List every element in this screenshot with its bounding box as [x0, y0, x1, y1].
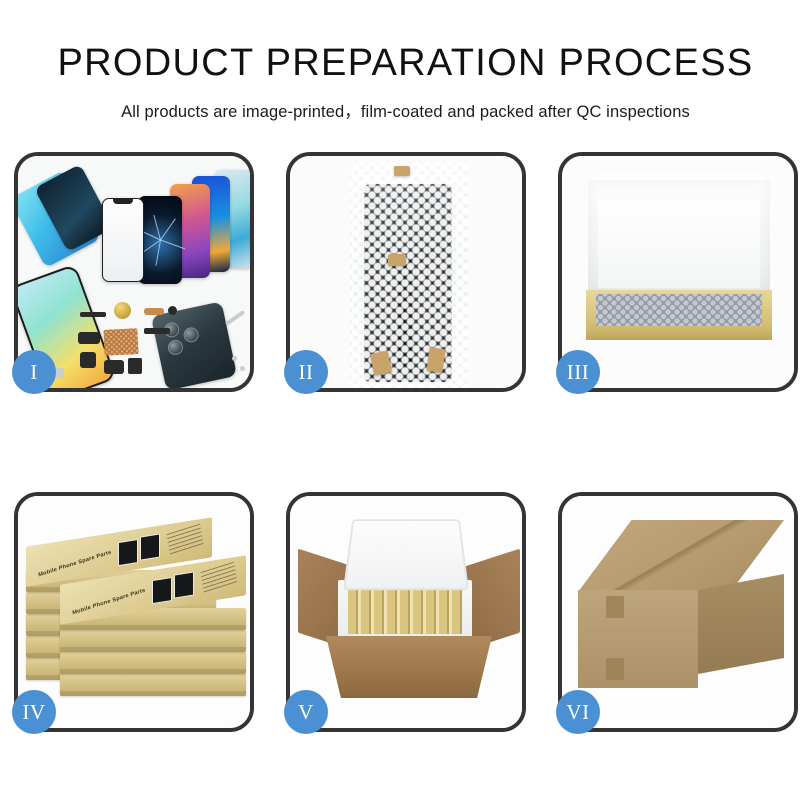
panel-badge-2: II — [284, 350, 328, 394]
speaker-coil-part — [114, 302, 131, 319]
carton-front-face — [578, 590, 698, 688]
phone-back-housing — [151, 301, 237, 388]
screw-part-a — [232, 356, 237, 361]
panel-2-image — [290, 156, 522, 388]
process-panel-grid: I II — [14, 152, 797, 732]
bubble-texture — [350, 162, 468, 388]
flex-strip-part — [80, 312, 106, 317]
copper-contact-grid-part — [103, 328, 138, 356]
panel-badge-1: I — [12, 350, 56, 394]
process-panel-1: I — [14, 152, 254, 392]
box-foam-inner — [598, 200, 760, 288]
panel-badge-5: V — [284, 690, 328, 734]
carton-tape-upper — [606, 596, 624, 618]
box-specs-text-left — [166, 524, 203, 556]
box-thumbnail-right-a — [152, 577, 172, 604]
gold-tray-front-edge — [586, 326, 772, 340]
connector-part — [144, 308, 164, 315]
box-label-left: Mobile Phone Spare Parts — [38, 550, 112, 579]
bubble-wrap-bag — [350, 162, 468, 388]
box-specs-text-right — [200, 562, 237, 594]
packed-gold-boxes-rows — [348, 588, 462, 634]
camera-module-part — [80, 352, 96, 368]
gold-box-right-5 — [60, 674, 246, 696]
process-panel-2: II — [286, 152, 526, 392]
box-thumbnail-left-a — [118, 539, 138, 566]
vibrator-part — [104, 360, 124, 374]
gold-box-right-4 — [60, 652, 246, 674]
page-header: PRODUCT PREPARATION PROCESS All products… — [0, 0, 811, 122]
tape-piece-middle — [388, 254, 406, 266]
gold-box-stack: Mobile Phone Spare Parts Mobile Phone Sp… — [24, 518, 250, 716]
box-thumbnail-right-b — [174, 572, 194, 599]
page-subtitle: All products are image-printed，film-coat… — [0, 98, 811, 122]
box-thumbnail-left-b — [140, 534, 160, 561]
process-panel-3: III — [558, 152, 798, 392]
panel-1-image — [18, 156, 250, 388]
phone-glass-white — [102, 198, 144, 282]
flex-cable-part — [144, 328, 170, 334]
panel-4-image: Mobile Phone Spare Parts Mobile Phone Sp… — [18, 496, 250, 728]
panel-badge-6: VI — [556, 690, 600, 734]
carton-side-face — [698, 574, 784, 674]
box-label-right: Mobile Phone Spare Parts — [72, 588, 146, 617]
button-part — [168, 306, 177, 315]
panel-5-image — [290, 496, 522, 728]
sensor-part — [128, 358, 142, 374]
screw-part-b — [240, 366, 245, 371]
panel-3-image — [562, 156, 794, 388]
panel-6-image — [562, 496, 794, 728]
gold-box-right-3 — [60, 630, 246, 652]
page-title: PRODUCT PREPARATION PROCESS — [0, 44, 811, 84]
panel-badge-3: III — [556, 350, 600, 394]
process-panel-6: VI — [558, 492, 798, 732]
panel-badge-4: IV — [12, 690, 56, 734]
bubble-wrapped-contents — [596, 294, 762, 328]
module-part-a — [78, 332, 100, 344]
tape-piece-bottom-right — [426, 347, 445, 373]
phone-black-cracked — [138, 196, 182, 284]
process-panel-4: Mobile Phone Spare Parts Mobile Phone Sp… — [14, 492, 254, 732]
foam-lid-open — [343, 519, 469, 590]
carton-body — [326, 636, 492, 698]
process-panel-5: V — [286, 492, 526, 732]
tape-piece-top — [394, 166, 410, 176]
carton-tape-lower — [606, 658, 624, 680]
